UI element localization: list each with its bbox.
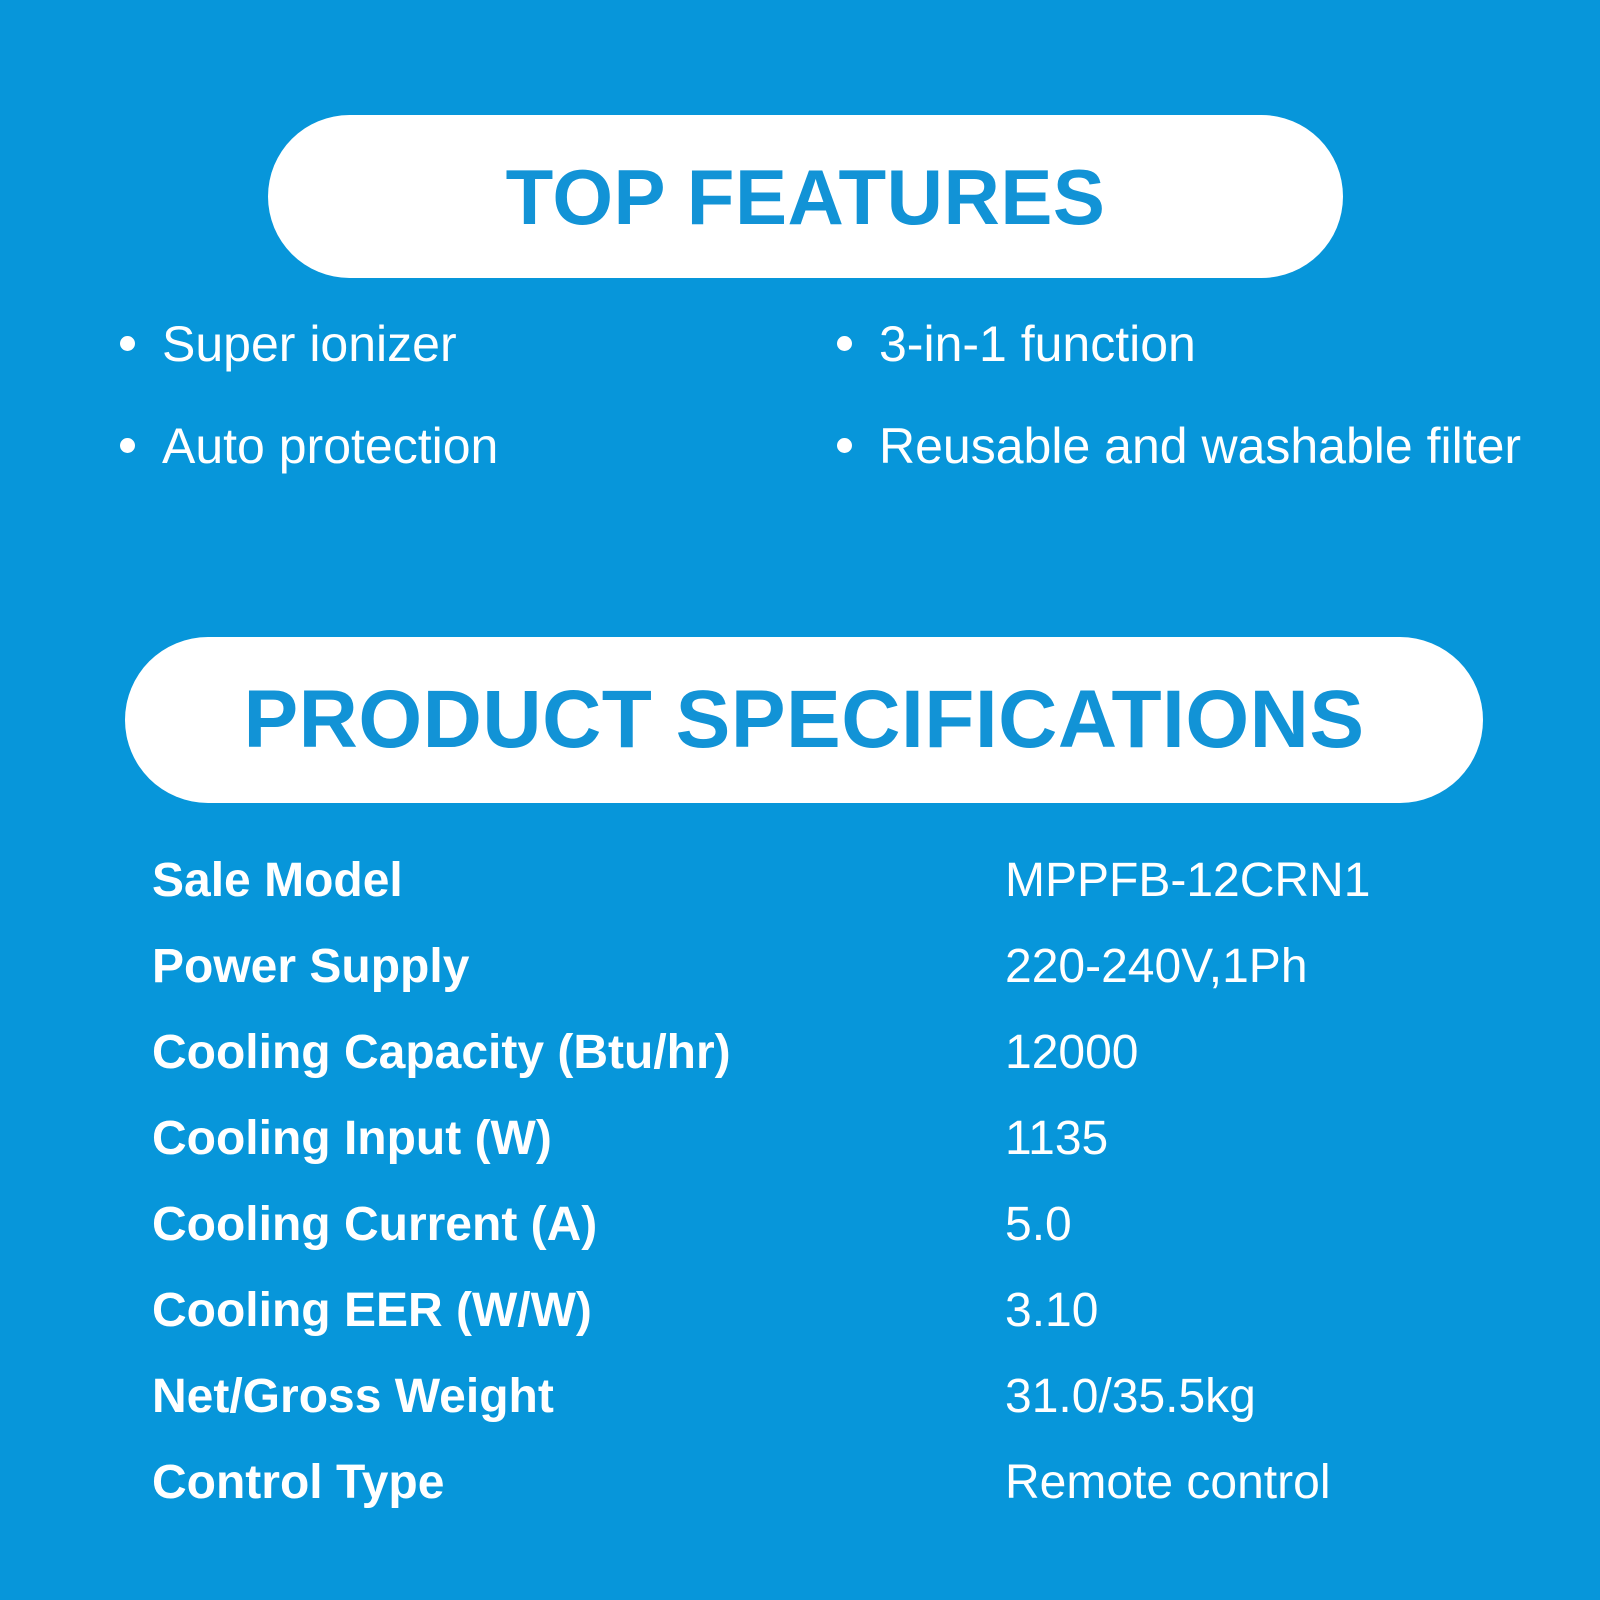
spec-label: Cooling Capacity (Btu/hr) [152,1010,731,1096]
feature-label: Reusable and washable filter [879,418,1521,474]
top-features-title: TOP FEATURES [506,158,1106,236]
features-column-left: Super ionizer Auto protection [110,312,770,516]
feature-label: 3-in-1 function [879,316,1196,372]
spec-value: 12000 [1005,1010,1138,1096]
specifications-table: Sale Model MPPFB-12CRN1 Power Supply 220… [0,838,1600,1526]
spec-value: 5.0 [1005,1182,1072,1268]
spec-label: Power Supply [152,924,469,1010]
spec-value: 220-240V,1Ph [1005,924,1308,1010]
spec-label: Control Type [152,1440,444,1526]
spec-value: 31.0/35.5kg [1005,1354,1256,1440]
table-row: Sale Model MPPFB-12CRN1 [0,838,1600,924]
feature-label: Super ionizer [162,316,457,372]
table-row: Power Supply 220-240V,1Ph [0,924,1600,1010]
bullet-dot-icon [837,438,852,453]
table-row: Cooling Input (W) 1135 [0,1096,1600,1182]
table-row: Cooling EER (W/W) 3.10 [0,1268,1600,1354]
product-specifications-header-pill: PRODUCT SPECIFICATIONS [125,637,1483,803]
top-features-header-pill: TOP FEATURES [268,115,1343,278]
spec-value: MPPFB-12CRN1 [1005,838,1370,924]
list-item: Auto protection [110,414,770,478]
feature-label: Auto protection [162,418,498,474]
list-item: 3-in-1 function [827,312,1527,376]
bullet-dot-icon [120,336,135,351]
spec-value: 3.10 [1005,1268,1098,1354]
spec-label: Cooling Input (W) [152,1096,552,1182]
product-specifications-title: PRODUCT SPECIFICATIONS [243,679,1364,761]
table-row: Cooling Current (A) 5.0 [0,1182,1600,1268]
bullet-dot-icon [837,336,852,351]
spec-value: Remote control [1005,1440,1330,1526]
features-list: Super ionizer Auto protection 3-in-1 fun… [0,312,1600,582]
spec-label: Sale Model [152,838,403,924]
spec-label: Cooling Current (A) [152,1182,597,1268]
spec-label: Cooling EER (W/W) [152,1268,592,1354]
table-row: Net/Gross Weight 31.0/35.5kg [0,1354,1600,1440]
spec-value: 1135 [1005,1096,1108,1182]
bullet-dot-icon [120,438,135,453]
table-row: Control Type Remote control [0,1440,1600,1526]
table-row: Cooling Capacity (Btu/hr) 12000 [0,1010,1600,1096]
list-item: Super ionizer [110,312,770,376]
features-column-right: 3-in-1 function Reusable and washable fi… [827,312,1527,516]
spec-label: Net/Gross Weight [152,1354,554,1440]
list-item: Reusable and washable filter [827,414,1527,478]
